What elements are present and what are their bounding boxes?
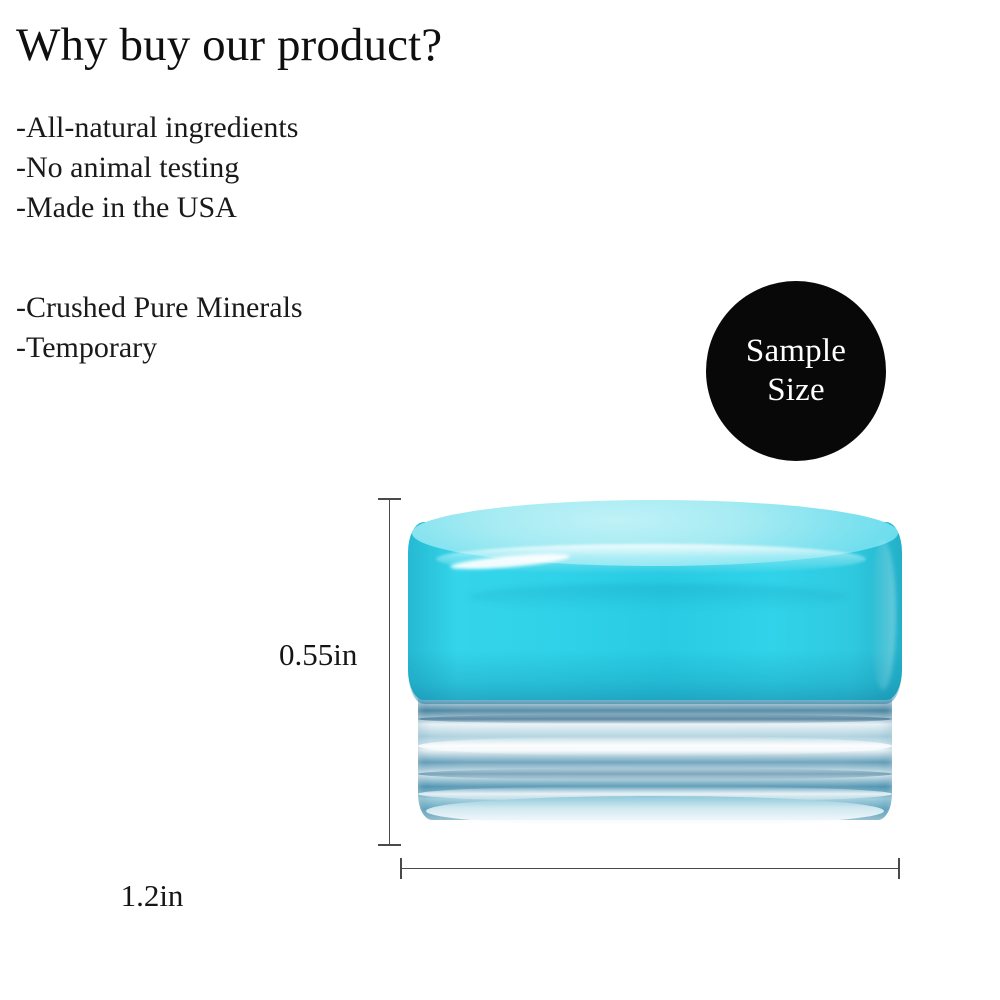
benefits-list-secondary: -Crushed Pure Minerals -Temporary bbox=[16, 288, 303, 368]
jar-lid-reflection-arc bbox=[468, 584, 848, 610]
page-title: Why buy our product? bbox=[16, 22, 442, 69]
sample-size-badge: Sample Size bbox=[706, 281, 886, 461]
list-item: -All-natural ingredients bbox=[16, 108, 298, 148]
jar-lid-right-edge-sheen bbox=[870, 540, 896, 690]
sample-size-badge-line-1: Sample bbox=[746, 332, 846, 371]
product-infographic: Why buy our product? -All-natural ingred… bbox=[0, 0, 1000, 1000]
list-item: -Crushed Pure Minerals bbox=[16, 288, 303, 328]
width-dimension-label: 1.2in bbox=[0, 878, 652, 914]
product-jar-image bbox=[408, 500, 902, 830]
height-dimension-label: 0.55in bbox=[279, 637, 357, 673]
benefits-list-primary: -All-natural ingredients -No animal test… bbox=[16, 108, 298, 228]
list-item: -Temporary bbox=[16, 328, 303, 368]
list-item: -Made in the USA bbox=[16, 188, 298, 228]
height-dimension-line bbox=[389, 498, 390, 846]
jar-lid-bottom-shading bbox=[408, 650, 902, 704]
jar-base-bottom-rim bbox=[426, 796, 884, 826]
list-item: -No animal testing bbox=[16, 148, 298, 188]
width-dimension-line bbox=[400, 868, 900, 869]
sample-size-badge-line-2: Size bbox=[767, 371, 825, 410]
